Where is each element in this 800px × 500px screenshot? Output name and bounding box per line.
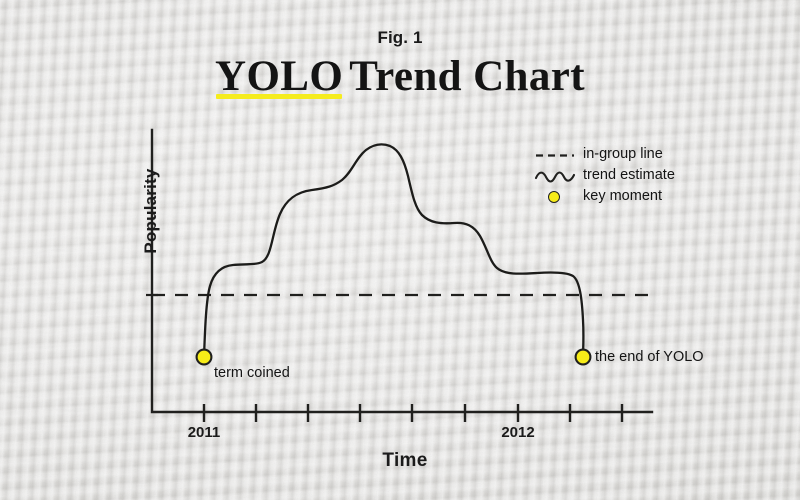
wavy-line-icon [531,166,579,187]
legend: in-group line trend estimate key moment [531,145,721,208]
annotation-term-coined: term coined [214,365,290,381]
x-axis-label: Time [285,450,525,472]
dashed-line-icon [531,145,579,166]
legend-label-key-moment: key moment [583,188,662,204]
legend-item-key-moment: key moment [531,187,721,208]
key-moment-markers [197,350,591,365]
y-axis-label: Popularity [141,141,161,281]
plot-area [0,0,800,500]
legend-item-trend-estimate: trend estimate [531,166,721,187]
annotation-end-of-yolo: the end of YOLO [595,349,704,365]
legend-label-in-group-line: in-group line [583,146,663,162]
yellow-dot-icon-wrap [531,187,579,208]
yellow-dot-icon [548,191,560,203]
trend-estimate-curve [204,144,583,357]
marker-end-of-yolo[interactable] [576,350,591,365]
x-tick-label-2012: 2012 [488,424,548,441]
legend-label-trend-estimate: trend estimate [583,167,675,183]
figure-canvas: Fig. 1 YOLO Trend Chart [0,0,800,500]
x-tick-label-2011: 2011 [174,424,234,441]
marker-term-coined[interactable] [197,350,212,365]
legend-item-in-group-line: in-group line [531,145,721,166]
